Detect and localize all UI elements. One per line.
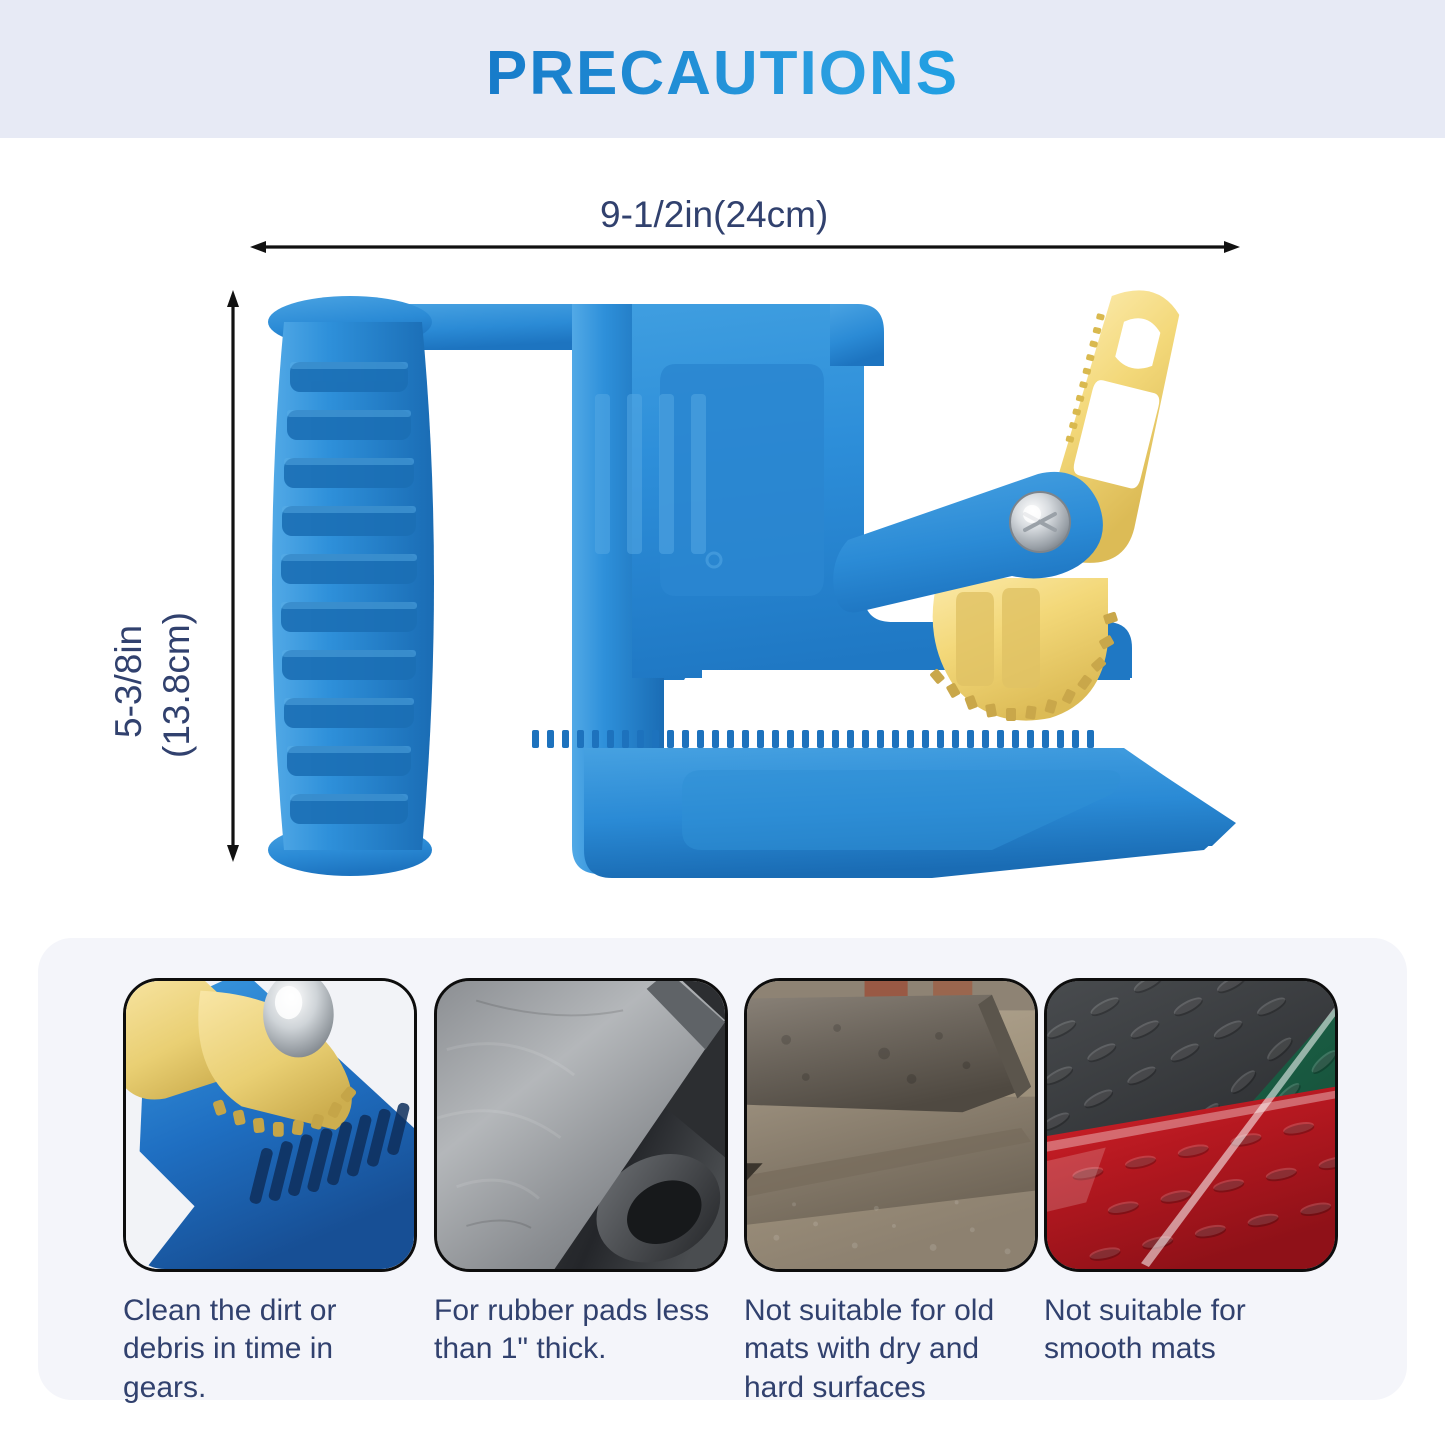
precaution-caption: Not suitable for smooth mats <box>1044 1292 1334 1369</box>
diamond-plate-mats-thumbnail[interactable] <box>1044 978 1338 1272</box>
gear-closeup-thumbnail[interactable] <box>123 978 417 1272</box>
precaution-caption: Clean the dirt or debris in time in gear… <box>123 1292 413 1407</box>
precaution-item: Not suitable for smooth mats <box>1044 978 1350 1369</box>
old-dry-mat-thumbnail[interactable] <box>744 978 1038 1272</box>
dimension-label-height-cm: (13.8cm) <box>156 612 198 758</box>
precaution-caption: For rubber pads less than 1" thick. <box>434 1292 724 1369</box>
header-band: PRECAUTIONS <box>0 0 1445 138</box>
precaution-item: Not suitable for old mats with dry and h… <box>744 978 1050 1407</box>
dimension-label-width: 9-1/2in(24cm) <box>600 194 828 236</box>
precaution-caption: Not suitable for old mats with dry and h… <box>744 1292 1034 1407</box>
page-title: PRECAUTIONS <box>0 38 1445 109</box>
precaution-thumbnail-row: Clean the dirt or debris in time in gear… <box>38 938 1407 1400</box>
product-illustration <box>232 278 1242 898</box>
precaution-item: Clean the dirt or debris in time in gear… <box>123 978 429 1407</box>
precautions-panel: Clean the dirt or debris in time in gear… <box>38 938 1407 1400</box>
dimension-label-height: 5-3/8in (13.8cm) <box>60 468 200 768</box>
dimension-label-height-inches: 5-3/8in <box>108 625 150 738</box>
precaution-item: For rubber pads less than 1" thick. <box>434 978 740 1369</box>
product-diagram-area: 9-1/2in(24cm) 5-3/8in (13.8cm) 1-3/4in (… <box>0 138 1445 938</box>
rolled-rubber-sheet-thumbnail[interactable] <box>434 978 728 1272</box>
dimension-arrow-width <box>250 240 1240 254</box>
precautions-infographic: PRECAUTIONS 9-1/2in(24cm) 5-3/8in (13.8c… <box>0 0 1445 1435</box>
